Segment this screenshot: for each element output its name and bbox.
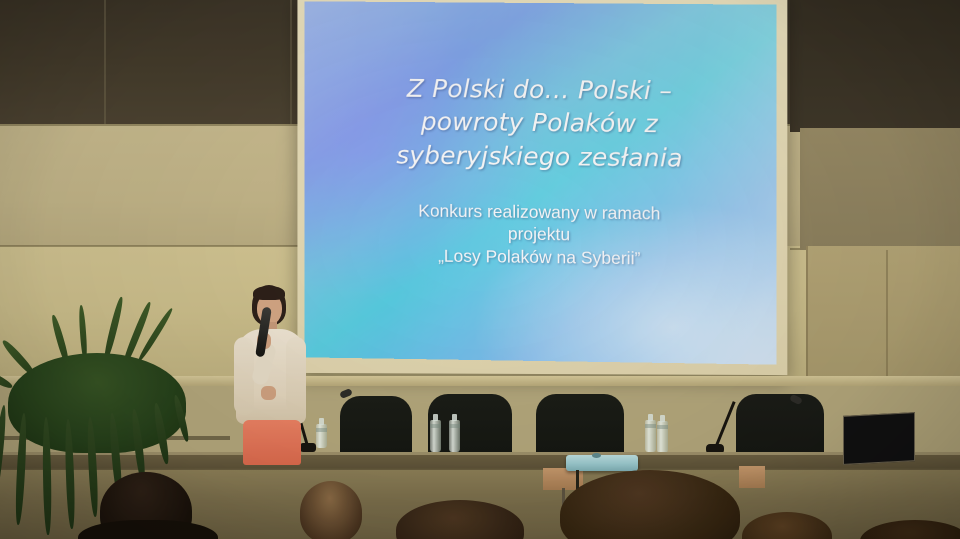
water-bottle: [657, 421, 668, 453]
wall-right-upper: [790, 0, 960, 132]
slide-title-line-3: syberyjskiego zesłania: [304, 137, 776, 175]
plant-frond: [0, 405, 8, 501]
slide-title-line-1: Z Polski do… Polski –: [304, 71, 776, 109]
projector: [566, 455, 638, 471]
wall-panel-seam: [886, 250, 888, 378]
plant-frond: [102, 296, 125, 362]
water-bottle: [449, 420, 460, 452]
water-bottle: [645, 420, 656, 452]
slide-content: Z Polski do… Polski – powroty Polaków z …: [304, 71, 776, 271]
laptop: [843, 412, 915, 465]
wall-right-middle: [800, 128, 960, 250]
presenter: [222, 285, 318, 465]
projection-screen: Z Polski do… Polski – powroty Polaków z …: [304, 1, 776, 364]
slide-subtitle: Konkurs realizowany w ramach projektu „L…: [304, 198, 776, 271]
projector-lens-icon: [592, 453, 601, 458]
slide-title-line-2: powroty Polaków z: [304, 104, 776, 142]
presenter-hand-free: [261, 386, 276, 400]
presentation-photo: Z Polski do… Polski – powroty Polaków z …: [0, 0, 960, 539]
presenter-fringe: [253, 286, 285, 300]
wall-right-lower: [806, 246, 960, 378]
presenter-arm-left: [234, 337, 254, 415]
slide-subtitle-line-3: „Losy Polaków na Syberii”: [304, 243, 776, 272]
ceiling-seam: [290, 0, 292, 128]
projector-stand-right: [739, 466, 765, 488]
wall-panel-seam: [806, 246, 808, 378]
presenter-arm-right: [286, 337, 306, 413]
wall-trim-line: [0, 245, 300, 247]
presenter-trousers: [243, 420, 301, 465]
water-bottle: [430, 420, 441, 452]
ceiling-seam: [104, 0, 106, 128]
slide-title: Z Polski do… Polski – powroty Polaków z …: [304, 71, 776, 175]
audience-head: [300, 481, 362, 539]
